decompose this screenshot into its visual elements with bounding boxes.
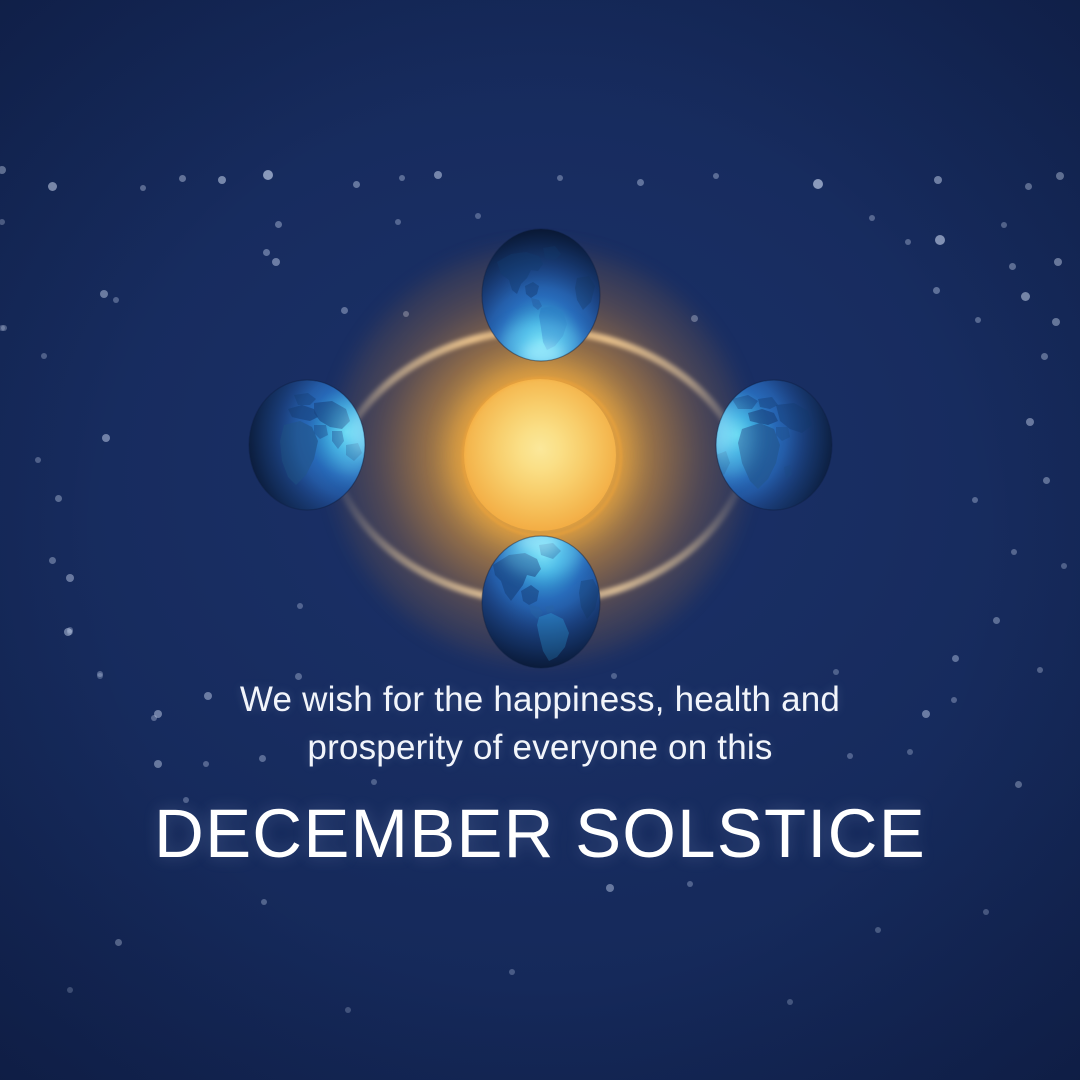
globe-right (714, 379, 834, 511)
wish-line-1: We wish for the happiness, health and (0, 676, 1080, 724)
globe-top (481, 228, 601, 362)
sun-rim (462, 377, 622, 537)
globe-bottom (481, 535, 601, 669)
greeting-text-block: We wish for the happiness, health and pr… (0, 676, 1080, 872)
december-solstice-poster: We wish for the happiness, health and pr… (0, 0, 1080, 1080)
wish-line-2: prosperity of everyone on this (0, 724, 1080, 772)
headline-december-solstice: DECEMBER SOLSTICE (0, 796, 1080, 872)
globe-left (248, 379, 366, 511)
